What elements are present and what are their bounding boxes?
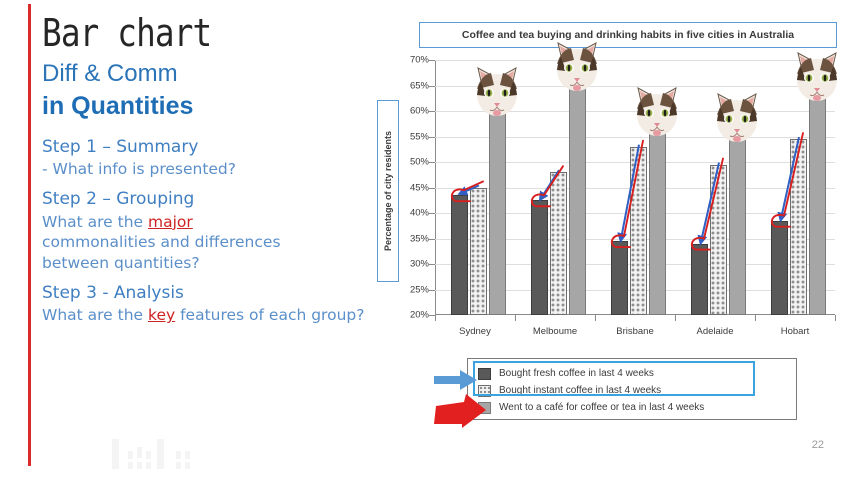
y-axis-tick-label: 40% (410, 208, 429, 219)
plot-area: 20%25%30%35%40%45%50%55%60%65%70%SydneyM… (435, 60, 835, 315)
slide-subtitle-1: Diff & Comm (42, 60, 392, 89)
x-axis-tick (755, 315, 756, 321)
bar-brisbane-series-0 (611, 241, 628, 315)
y-axis-tick-label: 45% (410, 182, 429, 193)
blue-arrow-icon (434, 370, 478, 390)
x-axis-tick (515, 315, 516, 321)
body-text: - What info is presented? (42, 160, 236, 178)
steps-list: Step 1 – Summary- What info is presented… (42, 137, 392, 326)
chart-title: Coffee and tea buying and drinking habit… (462, 29, 794, 41)
body-text: features of each group? (175, 306, 364, 324)
body-text: What are the (42, 213, 148, 231)
y-axis-tick-label: 65% (410, 80, 429, 91)
bar-brisbane-series-1 (630, 147, 647, 315)
bar-adelaide-series-0 (691, 244, 708, 315)
emphasised-term: key (148, 306, 175, 324)
grid-line (435, 60, 835, 61)
step-heading: Step 1 – Summary (42, 137, 392, 158)
page-number: 22 (812, 439, 824, 451)
bar-group (531, 86, 586, 316)
legend-item-2: Went to a café for coffee or tea in last… (478, 399, 788, 416)
legend-label: Bought instant coffee in last 4 weeks (499, 385, 661, 396)
bar-melboume-series-2 (569, 86, 586, 316)
slide-text-column: Bar chart Diff & Comm in Quantities Step… (42, 14, 392, 326)
y-axis-tick-label: 30% (410, 259, 429, 270)
x-axis-label-melboume: Melboume (533, 326, 577, 337)
step-body-line: commonalities and differences (42, 232, 372, 252)
x-axis-label-brisbane: Brisbane (616, 326, 654, 337)
y-axis-tick (429, 264, 435, 265)
y-axis-tick (429, 60, 435, 61)
y-axis-tick (429, 290, 435, 291)
legend-item-0: Bought fresh coffee in last 4 weeks (478, 365, 788, 382)
plot-inner: 20%25%30%35%40%45%50%55%60%65%70%SydneyM… (435, 60, 835, 315)
bar-adelaide-series-1 (710, 165, 727, 315)
bar-hobart-series-0 (771, 221, 788, 315)
chart-panel: Coffee and tea buying and drinking habit… (372, 12, 850, 432)
y-axis-label: Percentage of city residents (383, 131, 393, 251)
step-body-line: between quantities? (42, 253, 372, 273)
page-title: Bar chart (42, 14, 343, 54)
bar-group (771, 96, 826, 315)
y-axis-tick (429, 239, 435, 240)
legend-label: Bought fresh coffee in last 4 weeks (499, 368, 654, 379)
step-heading: Step 3 - Analysis (42, 283, 392, 304)
y-axis-tick-label: 35% (410, 233, 429, 244)
body-text: commonalities and differences (42, 233, 281, 251)
bar-melboume-series-0 (531, 200, 548, 315)
body-text: between quantities? (42, 254, 200, 272)
bar-sydney-series-0 (451, 195, 468, 315)
y-axis-tick-label: 20% (410, 310, 429, 321)
left-accent-bar (28, 4, 31, 466)
body-text: What are the (42, 306, 148, 324)
x-axis-label-adelaide: Adelaide (697, 326, 734, 337)
y-axis-tick-label: 55% (410, 131, 429, 142)
bar-sydney-series-1 (470, 188, 487, 316)
slide-canvas: Bar chart Diff & Comm in Quantities Step… (0, 0, 857, 477)
grid-line (435, 86, 835, 87)
step-heading: Step 2 – Grouping (42, 189, 392, 210)
y-axis-tick-label: 50% (410, 157, 429, 168)
bar-group (611, 131, 666, 315)
x-axis-tick (835, 315, 836, 321)
slide-subtitle-2: in Quantities (42, 91, 392, 121)
bar-sydney-series-2 (489, 111, 506, 315)
x-axis-tick (675, 315, 676, 321)
x-axis-tick (435, 315, 436, 321)
y-axis-tick (429, 137, 435, 138)
y-axis-tick (429, 86, 435, 87)
y-axis-tick-label: 25% (410, 284, 429, 295)
red-arrow-icon (432, 394, 488, 428)
emphasised-term: major (148, 213, 193, 231)
y-axis-tick (429, 162, 435, 163)
y-axis-tick-label: 60% (410, 106, 429, 117)
legend-label: Went to a café for coffee or tea in last… (499, 402, 704, 413)
y-axis-tick (429, 213, 435, 214)
y-axis-label-box: Percentage of city residents (377, 100, 399, 282)
legend-item-1: Bought instant coffee in last 4 weeks (478, 382, 788, 399)
x-axis-tick (595, 315, 596, 321)
step-body-line: - What info is presented? (42, 159, 392, 179)
chart-legend: Bought fresh coffee in last 4 weeksBough… (467, 358, 797, 420)
y-axis-tick (429, 111, 435, 112)
bar-group (451, 111, 506, 315)
y-axis-tick-label: 70% (410, 55, 429, 66)
step-body-line: What are the key features of each group? (42, 305, 392, 325)
bar-hobart-series-2 (809, 96, 826, 315)
y-axis-tick (429, 188, 435, 189)
decorative-watermark (104, 437, 224, 471)
legend-swatch-icon (478, 368, 491, 380)
chart-title-box: Coffee and tea buying and drinking habit… (419, 22, 837, 48)
x-axis-label-sydney: Sydney (459, 326, 491, 337)
x-axis-label-hobart: Hobart (781, 326, 810, 337)
step-body-line: What are the major (42, 212, 372, 232)
bar-brisbane-series-2 (649, 131, 666, 315)
bar-adelaide-series-2 (729, 137, 746, 316)
bar-group (691, 137, 746, 316)
bar-melboume-series-1 (550, 172, 567, 315)
bar-hobart-series-1 (790, 139, 807, 315)
